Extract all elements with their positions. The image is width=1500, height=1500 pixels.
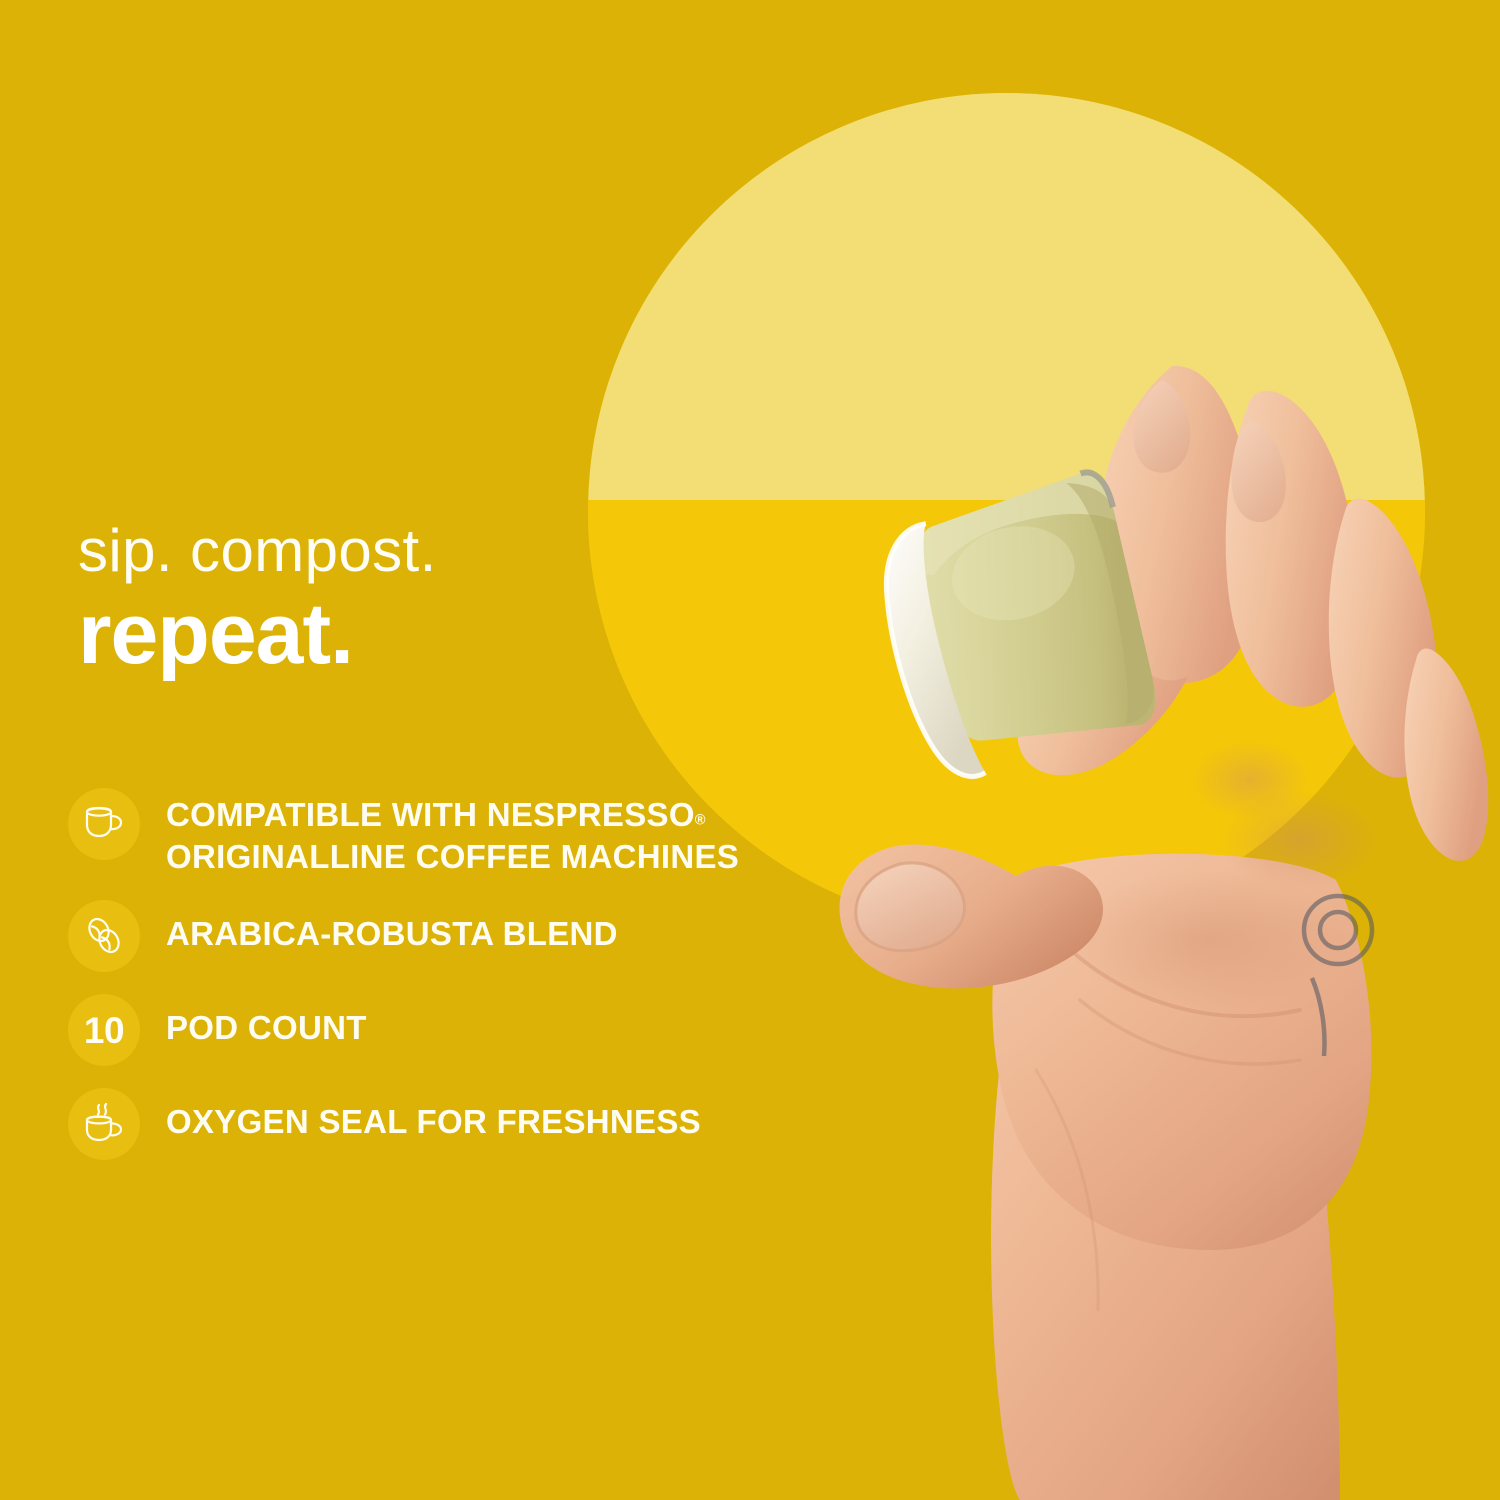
feature-row-blend: ARABICA-ROBUSTA BLEND [68, 900, 858, 972]
feature-label-oxygen-seal: OXYGEN SEAL FOR FRESHNESS [166, 1088, 701, 1143]
feature-row-compatibility: COMPATIBLE WITH NESPRESSO® ORIGINALLINE … [68, 788, 858, 878]
feature-row-oxygen-seal: OXYGEN SEAL FOR FRESHNESS [68, 1088, 858, 1160]
coffee-beans-icon [68, 900, 140, 972]
feature-text-prefix: COMPATIBLE WITH NESPRESSO [166, 796, 695, 833]
feature-label-blend: ARABICA-ROBUSTA BLEND [166, 900, 618, 955]
feature-row-pod-count: 10 POD COUNT [68, 994, 858, 1066]
coffee-cup-icon [68, 788, 140, 860]
hand-holding-pod-photo [780, 240, 1500, 1500]
pod-count-value: 10 [84, 1012, 124, 1049]
steaming-cup-icon [68, 1088, 140, 1160]
headline-block: sip. compost. repeat. [78, 521, 718, 679]
product-feature-graphic: sip. compost. repeat. COMPATIBLE WITH NE… [0, 0, 1500, 1500]
registered-trademark-symbol: ® [695, 813, 706, 829]
feature-list: COMPATIBLE WITH NESPRESSO® ORIGINALLINE … [68, 788, 858, 1160]
feature-label-compatibility: COMPATIBLE WITH NESPRESSO® ORIGINALLINE … [166, 788, 858, 878]
headline-line-1: sip. compost. [78, 521, 718, 581]
headline-line-2: repeat. [78, 591, 718, 679]
pod-count-number: 10 [68, 994, 140, 1066]
feature-label-pod-count: POD COUNT [166, 994, 367, 1049]
feature-text-suffix: ORIGINALLINE COFFEE MACHINES [166, 838, 739, 875]
